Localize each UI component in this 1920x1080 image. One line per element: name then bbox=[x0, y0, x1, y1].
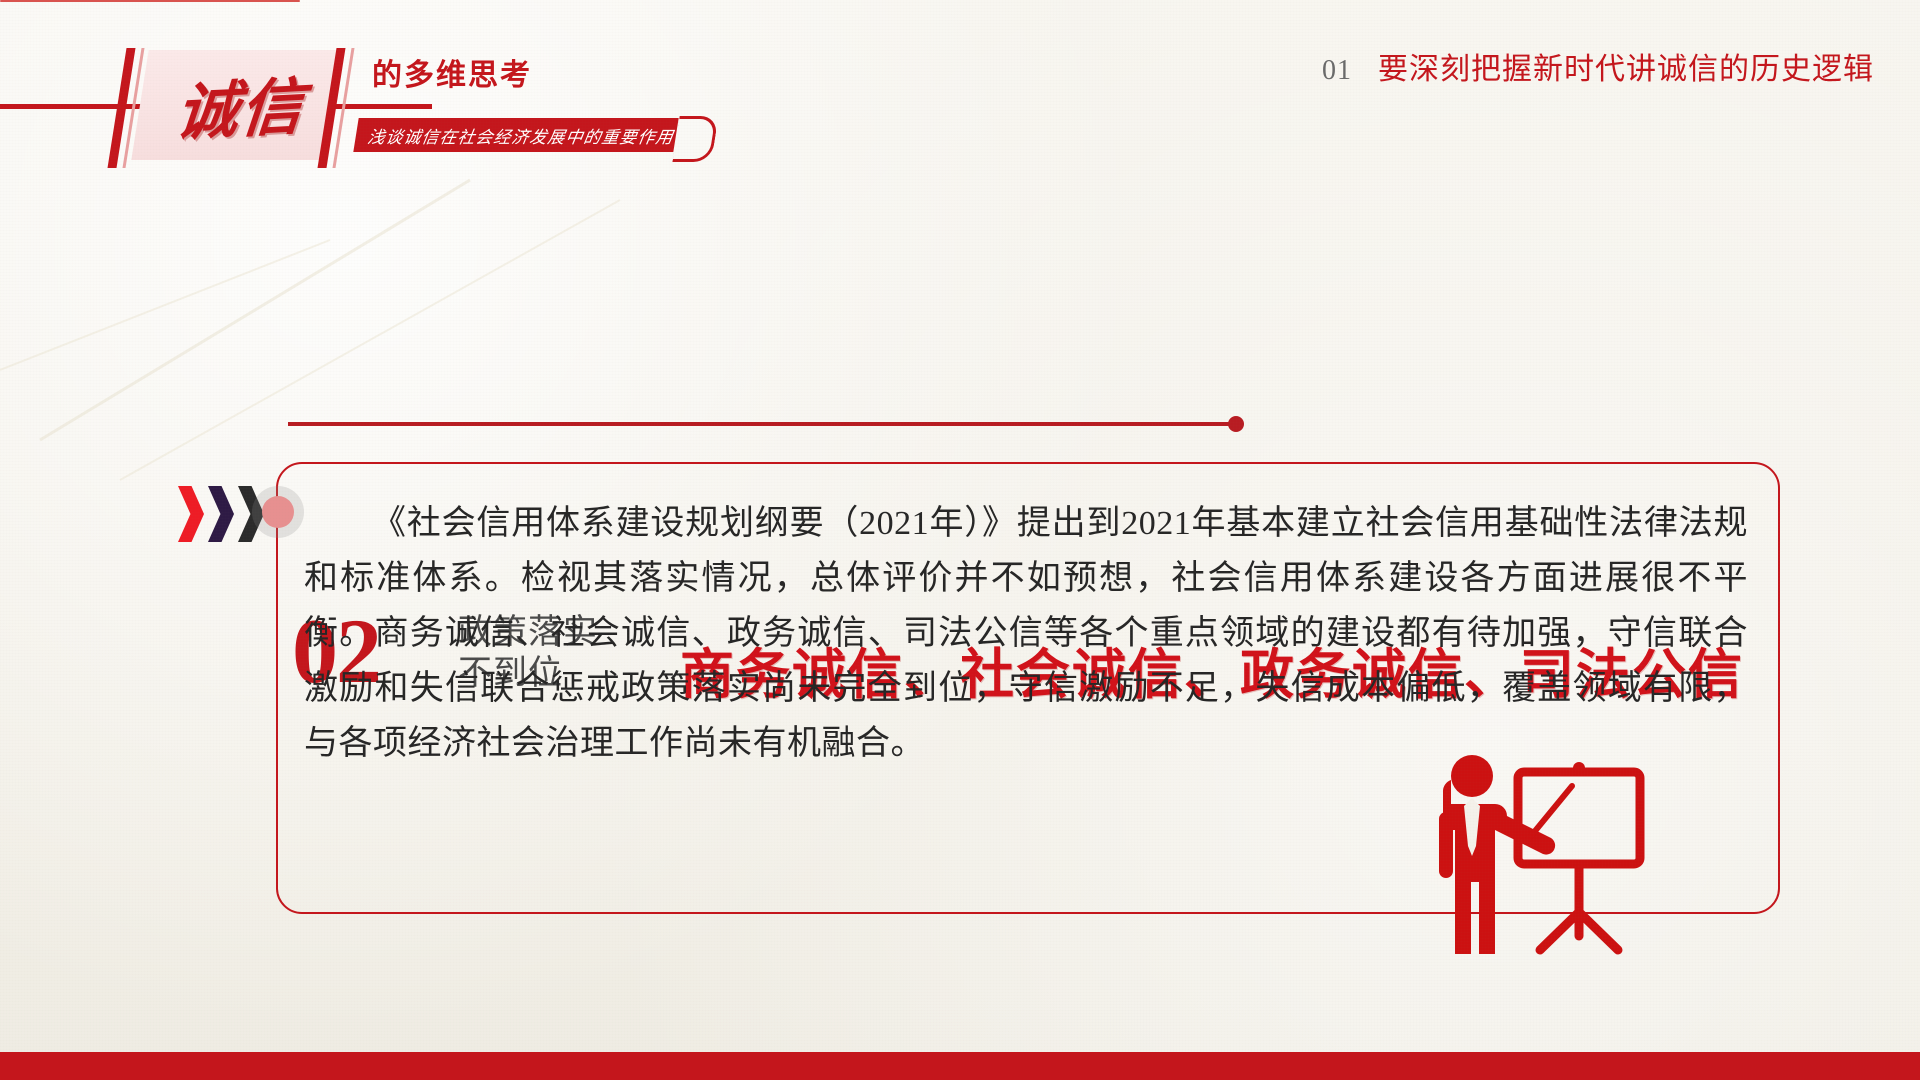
slide-header: 诚信 的多维思考 浅谈诚信在社会经济发展中的重要作用 01 要深刻把握新时代讲诚… bbox=[0, 0, 1920, 168]
section-underline-dot-icon bbox=[1228, 416, 1244, 432]
header-ribbon-text: 浅谈诚信在社会经济发展中的重要作用 bbox=[364, 120, 679, 150]
header-chapter-title: 要深刻把握新时代讲诚信的历史逻辑 bbox=[1378, 44, 1874, 88]
chevron-right-icon-1 bbox=[178, 486, 204, 542]
header-ribbon-tail bbox=[672, 116, 718, 162]
brand-logo-icon: 诚信 bbox=[140, 41, 341, 166]
section-title-block: 02 政策落实 不到位 商务诚信、社会诚信、政务诚信、司法公信 bbox=[0, 300, 1920, 440]
slide-canvas: 诚信 的多维思考 浅谈诚信在社会经济发展中的重要作用 01 要深刻把握新时代讲诚… bbox=[0, 0, 1920, 1080]
header-subtitle: 的多维思考 bbox=[372, 50, 532, 94]
dot-marker-icon bbox=[262, 496, 294, 528]
footer-bar bbox=[0, 1052, 1920, 1080]
content-paragraph: 《社会信用体系建设规划纲要（2021年）》提出到2021年基本建立社会信用基础性… bbox=[304, 496, 1748, 771]
header-chapter: 01 要深刻把握新时代讲诚信的历史逻辑 bbox=[1322, 44, 1874, 88]
presenter-with-whiteboard-icon bbox=[1430, 750, 1670, 970]
section-underline bbox=[288, 422, 1238, 426]
chevron-right-icon-2 bbox=[208, 486, 234, 542]
header-chapter-number: 01 bbox=[1322, 55, 1352, 87]
header-rule-thin bbox=[0, 0, 300, 2]
